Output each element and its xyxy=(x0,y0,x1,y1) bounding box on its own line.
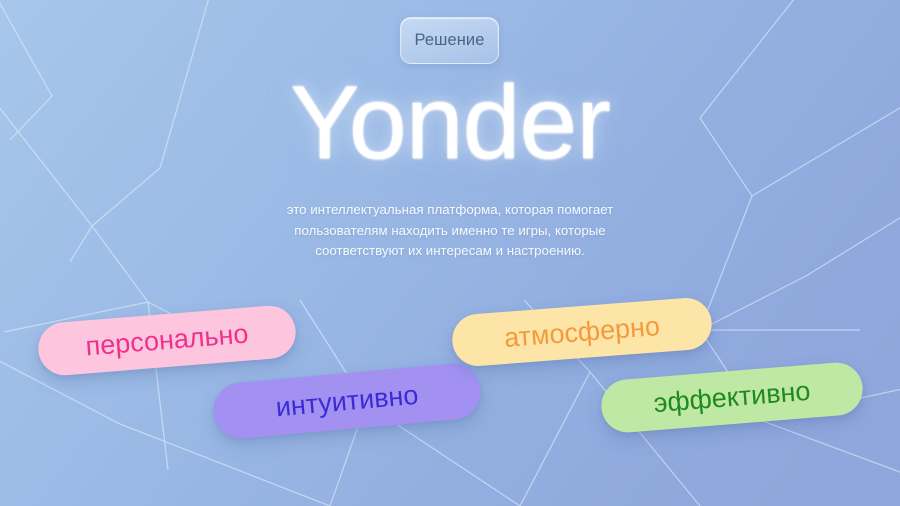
tag-pill-intuitive-label: интуитивно xyxy=(274,379,419,423)
tag-pill-intuitive[interactable]: интуитивно xyxy=(211,361,483,441)
tag-pill-personal[interactable]: персонально xyxy=(36,304,297,378)
tag-pill-atmospheric-label: атмосферно xyxy=(503,311,661,354)
page-subtitle: это интеллектуальная платформа, которая … xyxy=(250,200,650,262)
solution-badge-button[interactable]: Решение xyxy=(400,17,499,64)
tag-pill-atmospheric[interactable]: атмосферно xyxy=(450,296,713,368)
tag-pill-personal-label: персонально xyxy=(84,319,249,363)
subtitle-line-1: это интеллектуальная платформа, которая … xyxy=(250,200,650,221)
page-title: Yonder xyxy=(0,71,900,175)
tag-pill-effective-label: эффективно xyxy=(652,376,811,419)
tag-pill-effective[interactable]: эффективно xyxy=(599,361,864,435)
subtitle-line-2: пользователям находить именно те игры, к… xyxy=(250,221,650,242)
solution-badge-label: Решение xyxy=(414,31,484,50)
subtitle-line-3: соответствуют их интересам и настроению. xyxy=(250,241,650,262)
slide-canvas: Решение Yonder это интеллектуальная плат… xyxy=(0,0,900,506)
